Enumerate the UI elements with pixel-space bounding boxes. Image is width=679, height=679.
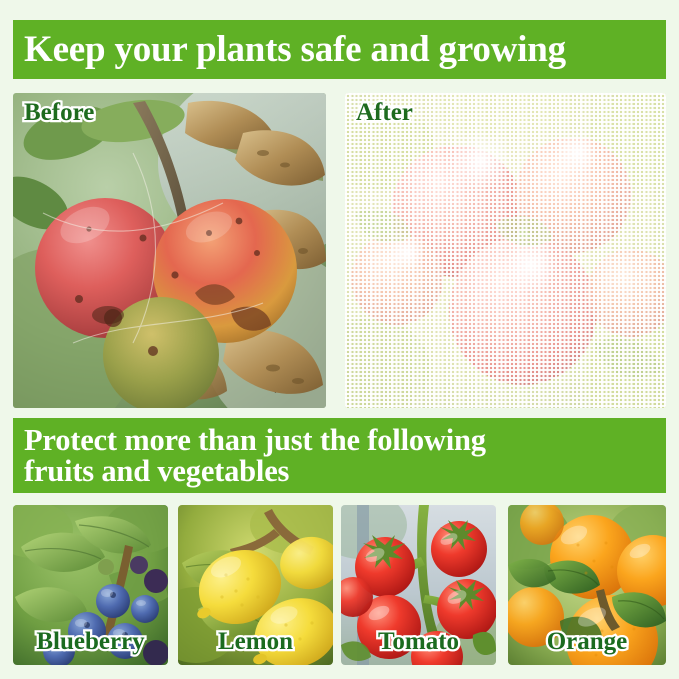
after-photo-panel: After: [345, 93, 666, 408]
before-label: Before: [24, 99, 94, 127]
thumbnail-label-orange: Orange: [508, 628, 666, 656]
thumbnail-label-blueberry: Blueberry: [13, 628, 168, 656]
thumbnail-blueberry: Blueberry: [13, 505, 168, 665]
thumbnail-label-tomato: Tomato: [341, 628, 496, 656]
thumbnail-orange: Orange: [508, 505, 666, 665]
middle-banner-line-2: fruits and vegetables: [24, 456, 666, 487]
after-label: After: [356, 99, 413, 127]
thumbnail-tomato: Tomato: [341, 505, 496, 665]
damaged-apples-image: [13, 93, 326, 408]
thumbnail-label-lemon: Lemon: [178, 628, 333, 656]
thumbnail-lemon: Lemon: [178, 505, 333, 665]
mesh-haze: [345, 93, 666, 408]
middle-banner: Protect more than just the following fru…: [13, 418, 666, 493]
infographic-page: Keep your plants safe and growing: [0, 0, 679, 679]
header-banner: Keep your plants safe and growing: [13, 20, 666, 79]
before-photo-panel: Before: [13, 93, 326, 408]
page-title: Keep your plants safe and growing: [24, 31, 566, 69]
middle-banner-line-1: Protect more than just the following: [24, 425, 666, 456]
